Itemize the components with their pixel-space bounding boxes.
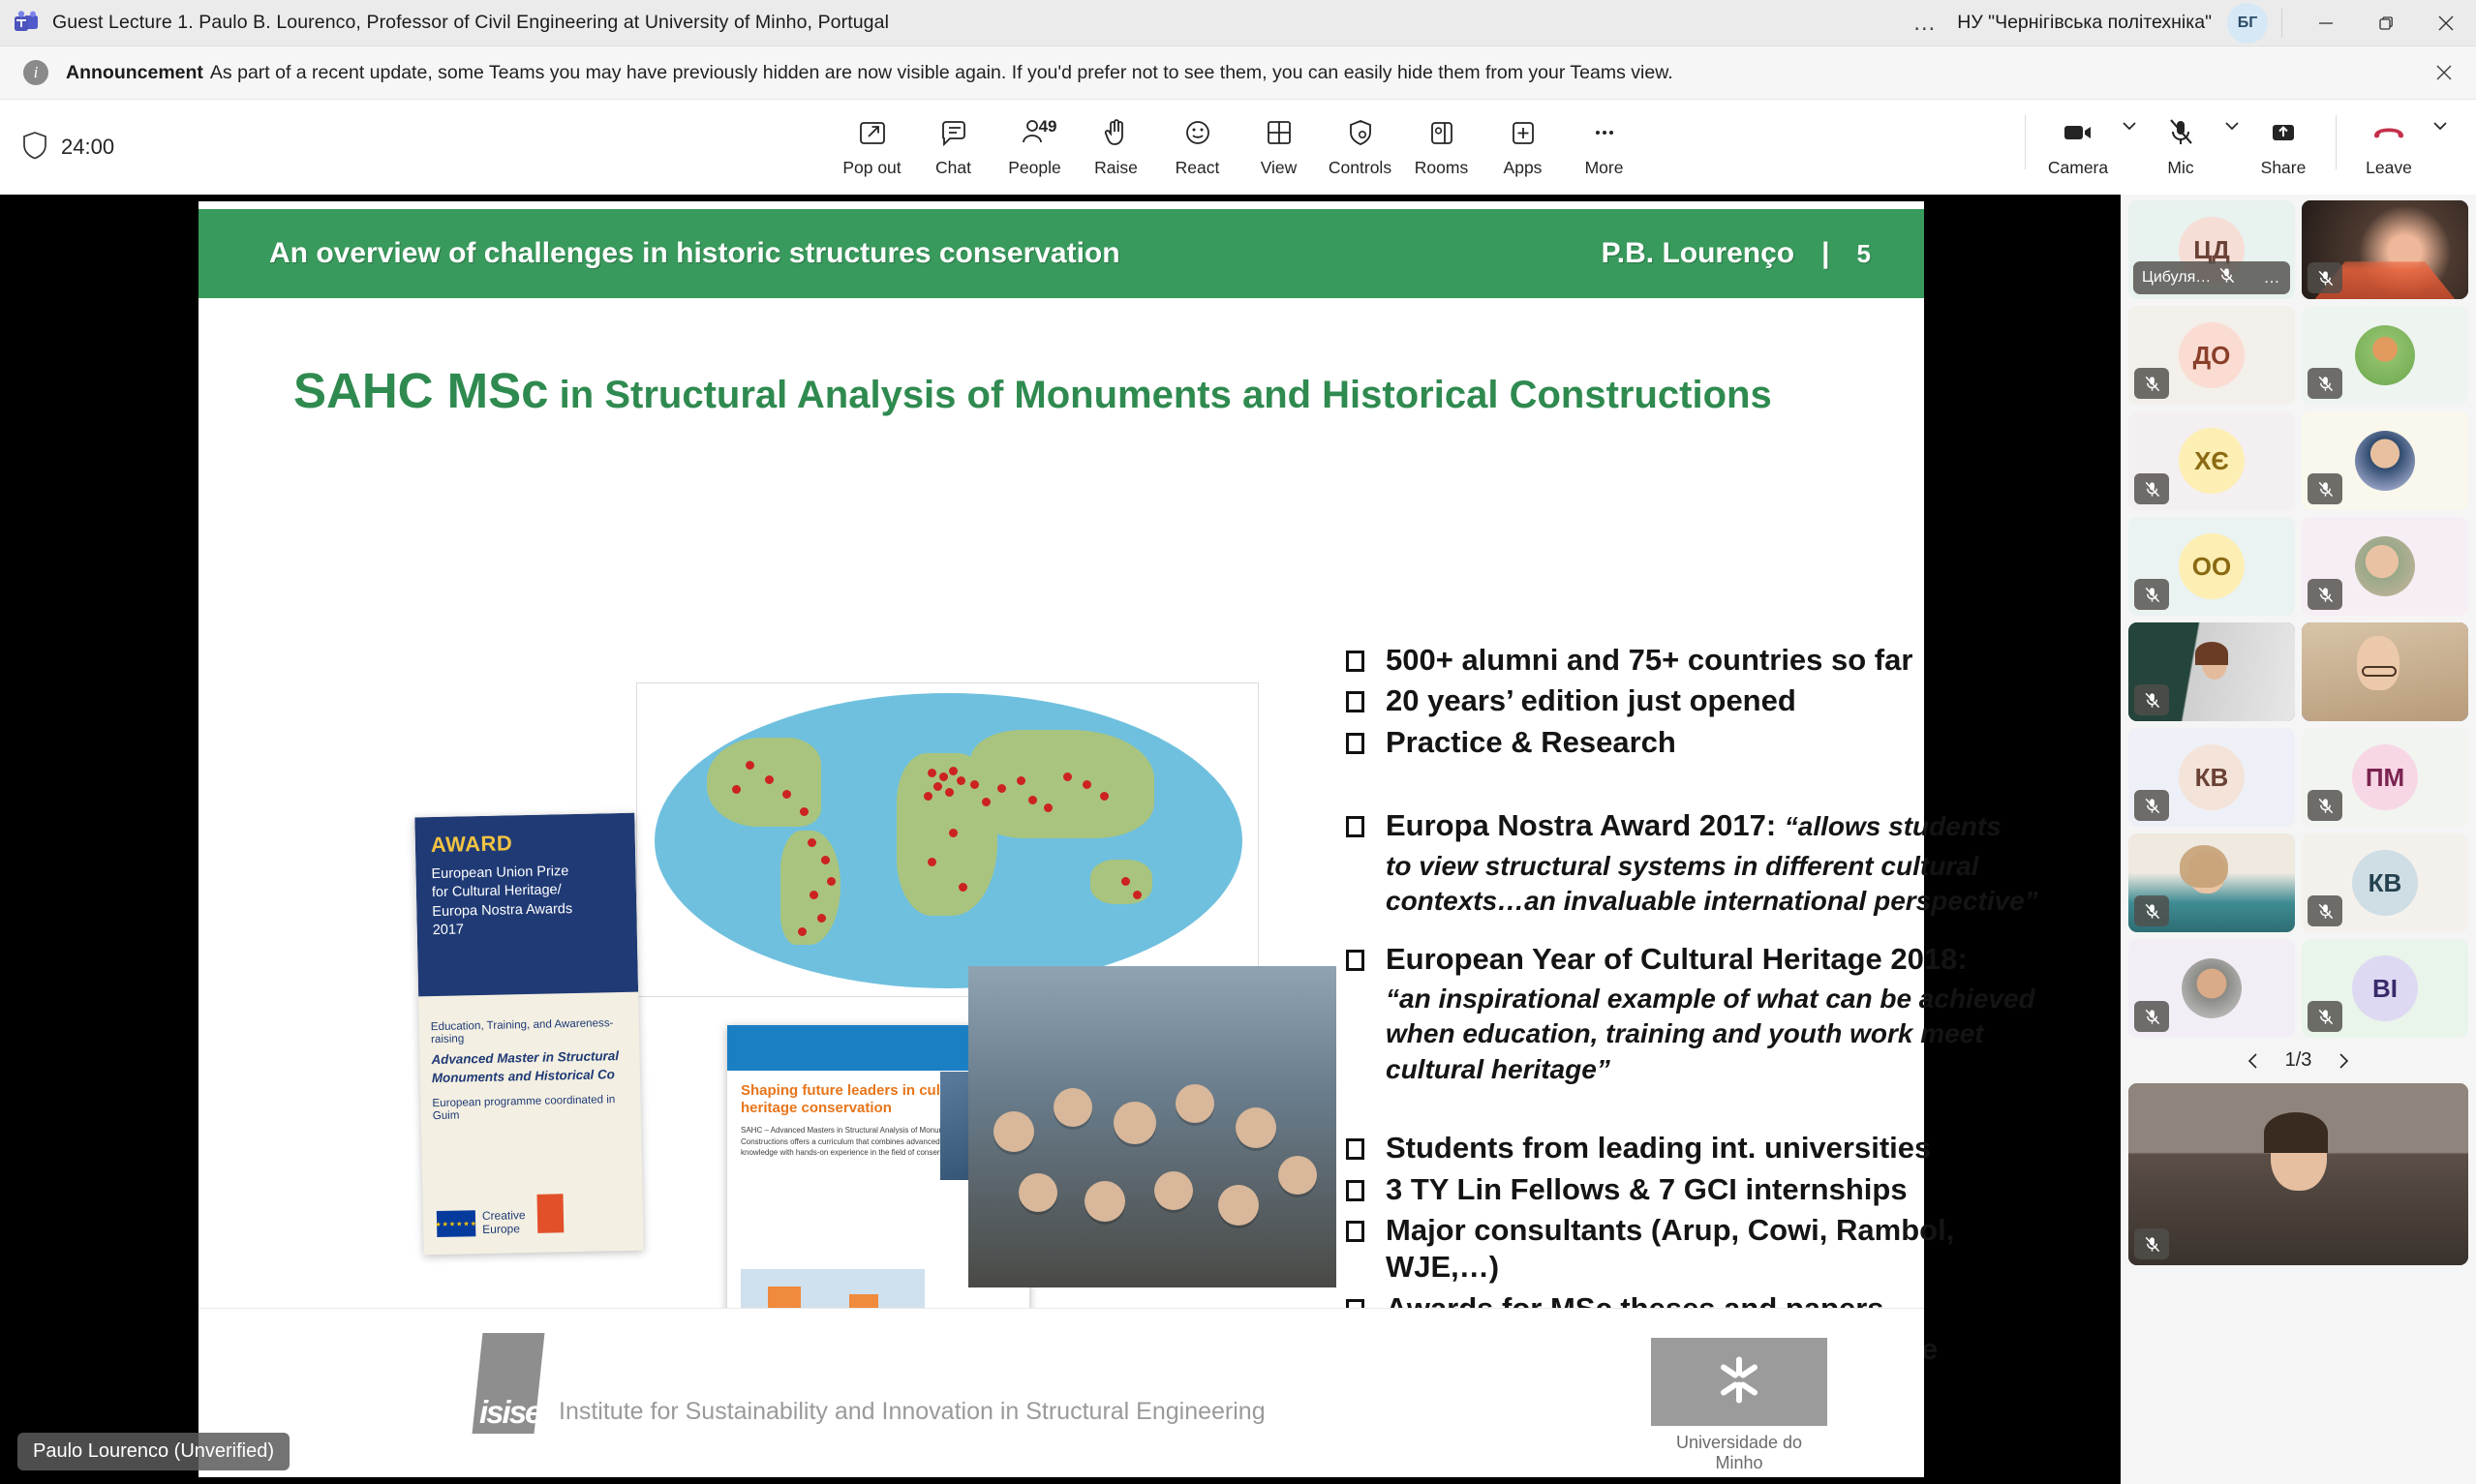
- participant-tile[interactable]: [2302, 200, 2468, 299]
- group-photo: [968, 966, 1336, 1287]
- more-button[interactable]: More: [1564, 100, 1645, 178]
- mic-off-icon: [2308, 473, 2342, 504]
- map-dot: [800, 807, 809, 816]
- award-sub-3: European programme coordinated in Guim: [432, 1093, 629, 1122]
- photo-person: [1236, 1107, 1276, 1148]
- map-dot: [957, 776, 965, 785]
- mic-button[interactable]: Mic: [2140, 100, 2221, 178]
- participant-name: Цибуля…: [2142, 269, 2211, 287]
- bullet-item-award: Europa Nostra Award 2017: “allows studen…: [1346, 807, 2111, 844]
- isise-institute-name: Institute for Sustainability and Innovat…: [559, 1398, 1266, 1426]
- organization-label: НУ "Чернігівська політехніка": [1957, 12, 2227, 34]
- bullet-item: 20 years’ edition just opened: [1346, 682, 2111, 719]
- bullet-text: Europa Nostra Award 2017: “allows studen…: [1386, 807, 2002, 844]
- award-poster: AWARD European Union Prize for Cultural …: [414, 813, 643, 1256]
- participant-tile[interactable]: КВ: [2302, 833, 2468, 932]
- announcement-bar: i Announcement As part of a recent updat…: [0, 46, 2476, 100]
- toolbar-divider-2: [2336, 115, 2337, 169]
- teams-icon: [14, 11, 39, 36]
- shield-icon: [21, 131, 48, 165]
- pop-out-button[interactable]: Pop out: [832, 100, 913, 178]
- announcement-text: As part of a recent update, some Teams y…: [210, 62, 1673, 84]
- participant-tile-large[interactable]: [2128, 1083, 2468, 1265]
- award-bullet-label: Europa Nostra Award 2017:: [1386, 808, 1776, 842]
- award-sub-1: Education, Training, and Awareness-raisi…: [431, 1016, 627, 1045]
- mic-off-icon: [2308, 579, 2342, 610]
- checkbox-bullet-icon: [1346, 1180, 1364, 1201]
- participant-hair: [2264, 1112, 2328, 1153]
- photo-person: [1218, 1185, 1259, 1226]
- slide-page-number: 5: [1857, 239, 1871, 269]
- window-title: Guest Lecture 1. Paulo B. Lourenco, Prof…: [52, 12, 889, 34]
- apps-plus-icon: [1507, 113, 1540, 152]
- map-dot: [1133, 891, 1142, 899]
- award-quote-line: to view structural systems in different …: [1386, 849, 2111, 884]
- participant-tile[interactable]: ХЄ: [2128, 411, 2295, 510]
- participant-more-icon[interactable]: …: [2264, 268, 2282, 288]
- info-icon: i: [23, 60, 48, 85]
- award-bullet-quote-start: “allows students: [1785, 811, 2002, 841]
- eu-flag-icon: [437, 1210, 476, 1237]
- avatar-photo: [2182, 958, 2242, 1018]
- map-dot: [959, 883, 967, 892]
- photo-person: [1278, 1156, 1317, 1195]
- shared-content-stage: An overview of challenges in historic st…: [0, 195, 2121, 1484]
- apps-button[interactable]: Apps: [1483, 100, 1564, 178]
- creative-europe-logo: Creative Europe: [437, 1209, 526, 1237]
- bullet-item: Students from leading int. universities: [1346, 1130, 2111, 1166]
- people-icon: 49: [1019, 113, 1052, 152]
- slide-title: SAHC MSc in Structural Analysis of Monum…: [293, 362, 1881, 419]
- photo-person: [1176, 1084, 1214, 1123]
- participant-pager: 1/3: [2128, 1049, 2468, 1072]
- slide-header-meta: P.B. Lourenço | 5: [1602, 237, 1871, 270]
- map-dot: [817, 914, 826, 923]
- slide-header: An overview of challenges in historic st…: [199, 209, 1924, 298]
- view-button[interactable]: View: [1238, 100, 1320, 178]
- avatar[interactable]: БГ: [2227, 3, 2268, 44]
- map-dot: [949, 829, 958, 837]
- mic-off-icon: [2134, 1001, 2169, 1032]
- award-heading: AWARD: [431, 829, 621, 858]
- participant-glasses: [2362, 666, 2397, 677]
- mic-off-icon: [2134, 895, 2169, 926]
- bullet-item-eych: European Year of Cultural Heritage 2018:: [1346, 941, 2111, 978]
- people-count-badge: 49: [1039, 117, 1057, 136]
- map-dot: [924, 792, 932, 801]
- restore-icon[interactable]: [2356, 0, 2416, 46]
- pager-label: 1/3: [2285, 1049, 2312, 1072]
- map-landmass: [970, 730, 1154, 838]
- leave-button[interactable]: Leave: [2348, 100, 2430, 178]
- avatar-initials: КВ: [2369, 868, 2402, 898]
- participant-tile[interactable]: ВІ: [2302, 939, 2468, 1038]
- photo-person: [1154, 1171, 1193, 1210]
- map-dot: [1028, 796, 1037, 804]
- award-poster-bottom: Education, Training, and Awareness-raisi…: [419, 1016, 641, 1123]
- map-dot: [949, 767, 958, 775]
- bullet-text: Major consultants (Arup, Cowi, Rambol, W…: [1386, 1212, 1954, 1287]
- meeting-timer: 24:00: [61, 135, 114, 160]
- bullet-text: Practice & Research: [1386, 724, 1676, 761]
- map-dot: [782, 790, 791, 799]
- map-dot: [933, 782, 942, 791]
- avatar: ПМ: [2352, 744, 2418, 810]
- more-label: More: [1585, 158, 1624, 178]
- leave-control: Leave: [2348, 100, 2451, 178]
- react-button[interactable]: React: [1157, 100, 1238, 178]
- photo-person: [1054, 1088, 1092, 1127]
- pop-out-icon: [856, 113, 889, 152]
- people-button[interactable]: 49 People: [994, 100, 1076, 178]
- react-icon: [1181, 113, 1214, 152]
- map-dot: [945, 788, 954, 797]
- europa-nostra-mark: [536, 1194, 564, 1233]
- map-dot: [732, 785, 741, 794]
- participant-rail: ЦД Цибуля… …: [2121, 195, 2476, 1484]
- title-bar: Guest Lecture 1. Paulo B. Lourenco, Prof…: [0, 0, 2476, 46]
- view-grid-icon: [1263, 113, 1296, 152]
- mic-off-icon: [2217, 266, 2236, 289]
- participant-tile[interactable]: ДО: [2128, 306, 2295, 405]
- rooms-label: Rooms: [1415, 158, 1468, 178]
- avatar: КВ: [2352, 850, 2418, 916]
- apps-label: Apps: [1504, 158, 1543, 178]
- participant-tile[interactable]: ОО: [2128, 517, 2295, 616]
- slide-bullet-list: 500+ alumni and 75+ countries so far 20 …: [1346, 642, 2111, 1373]
- map-dot: [808, 838, 816, 847]
- mic-off-icon: [2134, 473, 2169, 504]
- raise-label: Raise: [1094, 158, 1138, 178]
- flyer-heading-line-2: heritage conservation: [741, 1100, 892, 1116]
- meeting-toolbar: 24:00 Pop out Chat: [0, 100, 2476, 195]
- mic-label: Mic: [2167, 158, 2193, 178]
- map-dot: [1063, 772, 1072, 781]
- award-quote-line: contexts…an invaluable international per…: [1386, 884, 2111, 919]
- hang-up-icon: [2369, 113, 2408, 152]
- checkbox-bullet-icon: [1346, 691, 1364, 712]
- people-label: People: [1008, 158, 1061, 178]
- mic-control: Mic: [2140, 100, 2243, 178]
- checkbox-bullet-icon: [1346, 651, 1364, 672]
- uminho-label: Universidade do Minho: [1651, 1433, 1827, 1473]
- raise-hand-icon: [1100, 113, 1133, 152]
- map-dot: [810, 891, 818, 899]
- participant-grid: ЦД Цибуля… …: [2128, 200, 2468, 1038]
- map-dot: [970, 780, 979, 789]
- checkbox-bullet-icon: [1346, 733, 1364, 754]
- mic-off-icon: [2308, 262, 2342, 293]
- camera-label: Camera: [2048, 158, 2108, 178]
- bullet-text-line-2: WJE,…): [1386, 1250, 1499, 1284]
- isise-logo-word: isise: [479, 1394, 540, 1431]
- avatar-initials: ОО: [2192, 552, 2231, 582]
- award-sub-2b: Monuments and Historical Co: [432, 1066, 628, 1087]
- title-divider: [2281, 9, 2282, 38]
- rooms-button[interactable]: Rooms: [1401, 100, 1483, 178]
- bullet-text: 500+ alumni and 75+ countries so far: [1386, 642, 1912, 679]
- map-dot: [798, 927, 807, 936]
- bullet-item: Major consultants (Arup, Cowi, Rambol, W…: [1346, 1212, 2111, 1287]
- mic-off-icon: [2134, 368, 2169, 399]
- title-bar-left: Guest Lecture 1. Paulo B. Lourenco, Prof…: [0, 11, 889, 36]
- participant-tile[interactable]: [2302, 411, 2468, 510]
- slide-author: P.B. Lourenço: [1602, 237, 1794, 270]
- map-dot: [746, 761, 754, 770]
- bullet-text: Students from leading int. universities: [1386, 1130, 1931, 1166]
- slide-title-rest: in Structural Analysis of Monuments and …: [560, 374, 1772, 416]
- avatar: ОО: [2179, 533, 2245, 599]
- creative-europe-line-2: Europe: [482, 1222, 520, 1236]
- avatar-initials: ЦД: [2193, 235, 2230, 265]
- checkbox-bullet-icon: [1346, 950, 1364, 971]
- bullet-item: 3 TY Lin Fellows & 7 GCI internships: [1346, 1171, 2111, 1208]
- camera-button[interactable]: Camera: [2037, 100, 2119, 178]
- more-dots-icon: [1588, 113, 1621, 152]
- map-dot: [827, 877, 836, 886]
- avatar: КВ: [2179, 744, 2245, 810]
- flyer-heading-line-1: Shaping future leaders in cultural: [741, 1082, 971, 1099]
- participant-tile[interactable]: [2302, 306, 2468, 405]
- view-label: View: [1261, 158, 1298, 178]
- avatar: ВІ: [2352, 955, 2418, 1021]
- award-line-4: 2017: [433, 918, 622, 940]
- participant-tile[interactable]: [2302, 517, 2468, 616]
- announcement-label: Announcement: [66, 62, 203, 84]
- react-label: React: [1176, 158, 1220, 178]
- mic-off-icon: [2308, 790, 2342, 821]
- avatar-photo: [2355, 325, 2415, 385]
- mic-off-icon: [2164, 113, 2197, 152]
- title-bar-right: … НУ "Чернігівська політехніка" БГ: [1893, 0, 2476, 46]
- participant-tile[interactable]: [2128, 939, 2295, 1038]
- avatar-initials: КВ: [2195, 763, 2229, 793]
- controls-button[interactable]: Controls: [1320, 100, 1401, 178]
- eych-quote-line: when education, training and youth work …: [1386, 1016, 2111, 1051]
- map-dot: [939, 772, 948, 781]
- leave-chevron-down-icon[interactable]: [2430, 100, 2451, 138]
- chevron-left-icon[interactable]: [2243, 1050, 2264, 1072]
- participant-tile[interactable]: КВ: [2128, 728, 2295, 827]
- map-dot: [1017, 776, 1025, 785]
- checkbox-bullet-icon: [1346, 816, 1364, 837]
- bullet-spacer: [1346, 1087, 2111, 1130]
- slide-header-title: An overview of challenges in historic st…: [269, 237, 1120, 270]
- mic-off-icon: [2308, 1001, 2342, 1032]
- map-dot: [821, 856, 830, 864]
- map-dot: [928, 769, 936, 777]
- avatar-photo: [2355, 431, 2415, 491]
- slide-divider: |: [1821, 237, 1829, 270]
- mic-off-icon: [2134, 1228, 2169, 1259]
- controls-label: Controls: [1329, 158, 1391, 178]
- announcement-close-icon[interactable]: [2433, 62, 2455, 83]
- bullet-text-line-1: Major consultants (Arup, Cowi, Rambol,: [1386, 1213, 1954, 1247]
- mic-off-icon: [2134, 579, 2169, 610]
- chat-button[interactable]: Chat: [913, 100, 994, 178]
- share-label: Share: [2261, 158, 2307, 178]
- map-dot: [1100, 792, 1109, 801]
- mic-chevron-down-icon[interactable]: [2221, 100, 2243, 138]
- mic-off-icon: [2134, 790, 2169, 821]
- award-poster-top: AWARD European Union Prize for Cultural …: [414, 813, 638, 997]
- share-screen-icon: [2267, 113, 2300, 152]
- photo-person: [1114, 1102, 1156, 1144]
- photo-person: [1019, 1173, 1057, 1212]
- presenter-name-badge: Paulo Lourenco (Unverified): [17, 1433, 290, 1470]
- teams-meeting-window: Guest Lecture 1. Paulo B. Lourenco, Prof…: [0, 0, 2476, 1484]
- world-map-figure: [636, 682, 1259, 997]
- toolbar-call-controls: Camera Mic: [2013, 100, 2476, 195]
- meeting-timer-group: 24:00: [0, 131, 114, 165]
- photo-person: [1085, 1181, 1125, 1222]
- chat-label: Chat: [935, 158, 971, 178]
- eych-quote-line: “an inspirational example of what can be…: [1386, 982, 2111, 1016]
- avatar: ХЄ: [2179, 428, 2245, 494]
- mic-off-icon: [2308, 895, 2342, 926]
- breakout-rooms-icon: [1425, 113, 1458, 152]
- bullet-text: 3 TY Lin Fellows & 7 GCI internships: [1386, 1171, 1908, 1208]
- share-button[interactable]: Share: [2243, 100, 2324, 178]
- participant-hair: [2180, 845, 2228, 888]
- photo-person: [993, 1111, 1034, 1152]
- map-dot: [997, 784, 1006, 793]
- bullet-spacer: [1346, 765, 2111, 807]
- map-dot: [1044, 803, 1053, 812]
- controls-shield-icon: [1344, 113, 1377, 152]
- toolbar-divider: [2025, 115, 2026, 169]
- participant-tile[interactable]: ПМ: [2302, 728, 2468, 827]
- participant-tile[interactable]: [2128, 833, 2295, 932]
- checkbox-bullet-icon: [1346, 1221, 1364, 1242]
- uminho-logo-box: [1651, 1338, 1827, 1426]
- title-overflow-button[interactable]: …: [1893, 12, 1957, 35]
- participant-face: [2357, 636, 2400, 690]
- uminho-logo: Universidade do Minho: [1651, 1338, 1827, 1473]
- chevron-right-icon[interactable]: [2333, 1050, 2354, 1072]
- bullet-item: 500+ alumni and 75+ countries so far: [1346, 642, 2111, 679]
- avatar-initials: ПМ: [2366, 763, 2404, 793]
- avatar-initials: ДО: [2193, 341, 2231, 371]
- uminho-star-icon: [1711, 1351, 1767, 1412]
- participant-tile-active-speaker[interactable]: [2302, 622, 2468, 721]
- award-sub-2a: Advanced Master in Structural: [431, 1047, 627, 1069]
- bullet-text: European Year of Cultural Heritage 2018:: [1386, 941, 1968, 978]
- participant-tile[interactable]: ЦД Цибуля… …: [2128, 200, 2295, 299]
- mic-off-icon: [2308, 368, 2342, 399]
- participant-hair: [2195, 642, 2228, 665]
- map-dot: [1083, 780, 1091, 789]
- eych-quote-line: cultural heritage”: [1386, 1052, 2111, 1087]
- bullet-spacer: [1346, 920, 2111, 941]
- slide-title-emphasis: SAHC MSc: [293, 363, 549, 418]
- map-dot: [982, 798, 991, 806]
- checkbox-bullet-icon: [1346, 1138, 1364, 1160]
- map-dot: [928, 858, 936, 866]
- participant-namebar: Цибуля… …: [2133, 261, 2290, 294]
- close-icon[interactable]: [2416, 0, 2476, 46]
- avatar-initials: ХЄ: [2194, 446, 2229, 476]
- pop-out-label: Pop out: [842, 158, 901, 178]
- leave-label: Leave: [2366, 158, 2412, 178]
- camera-icon: [2060, 113, 2096, 152]
- participant-tile[interactable]: [2128, 622, 2295, 721]
- camera-chevron-down-icon[interactable]: [2119, 100, 2140, 138]
- bullet-text: 20 years’ edition just opened: [1386, 682, 1796, 719]
- toolbar-actions: Pop out Chat 49: [832, 100, 1645, 195]
- minimize-icon[interactable]: [2296, 0, 2356, 46]
- map-dot: [1121, 877, 1130, 886]
- avatar-initials: ВІ: [2372, 974, 2398, 1004]
- camera-control: Camera: [2037, 100, 2140, 178]
- creative-europe-label: Creative Europe: [482, 1209, 526, 1235]
- slide-footer: isise Institute for Sustainability and I…: [199, 1308, 1924, 1477]
- bullet-item: Practice & Research: [1346, 724, 2111, 761]
- map-dot: [765, 775, 774, 784]
- raise-hand-button[interactable]: Raise: [1076, 100, 1157, 178]
- avatar: ДО: [2179, 322, 2245, 388]
- presentation-slide: An overview of challenges in historic st…: [199, 201, 1924, 1477]
- mic-off-icon: [2134, 684, 2169, 715]
- chat-icon: [937, 113, 970, 152]
- avatar-photo: [2355, 536, 2415, 596]
